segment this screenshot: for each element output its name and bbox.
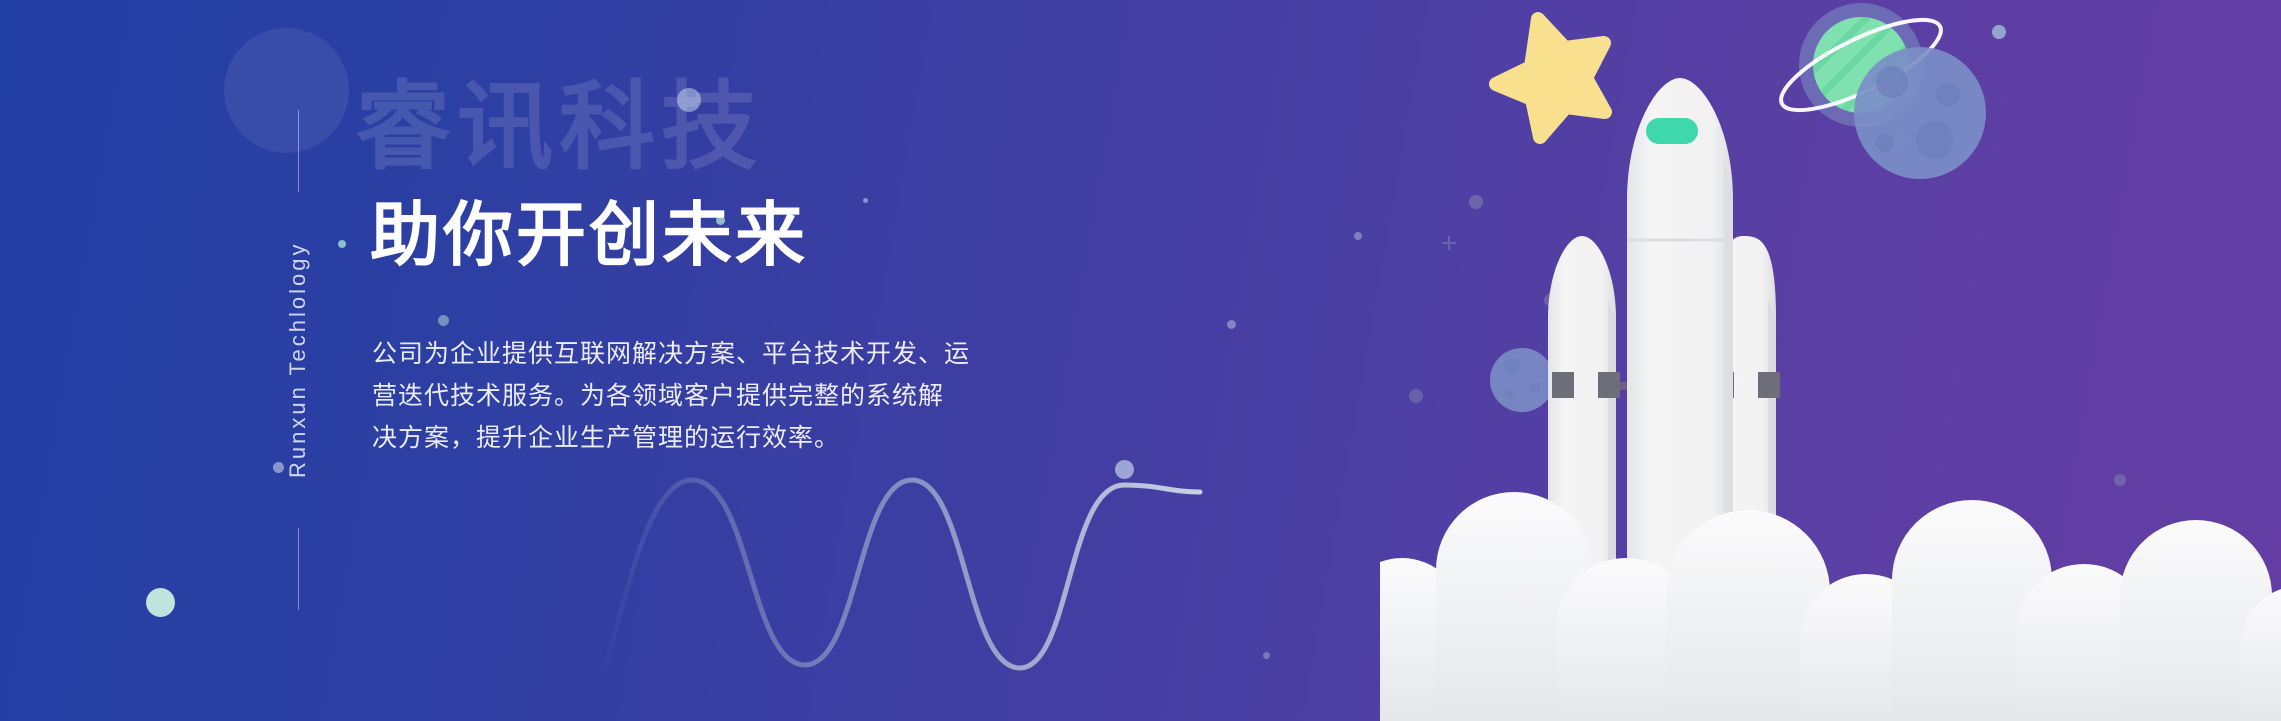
rocket-window bbox=[1646, 118, 1698, 144]
rail-line-top bbox=[298, 110, 299, 192]
moon-decoration bbox=[1854, 47, 1986, 179]
vertical-brand-rail: Runxun Techlology bbox=[278, 110, 318, 610]
rail-line-bottom bbox=[298, 528, 299, 610]
small-moon bbox=[1490, 348, 1554, 412]
background-dot-5 bbox=[438, 315, 449, 326]
background-dot-6 bbox=[146, 588, 175, 617]
ghost-company-title: 睿讯科技 bbox=[355, 80, 763, 176]
background-dot-3 bbox=[863, 198, 868, 203]
headline-title: 助你开创未来 bbox=[370, 200, 808, 270]
background-dot-9 bbox=[1227, 320, 1236, 329]
sine-wave-decoration bbox=[600, 440, 1280, 690]
paragraph-line-2: 营迭代技术服务。为各领域客户提供完整的系统解 bbox=[372, 375, 1162, 417]
rocket-scene bbox=[1380, 0, 2281, 721]
star-decoration bbox=[1496, 19, 1605, 137]
rocket-main-body bbox=[1627, 78, 1733, 580]
paragraph-line-1: 公司为企业提供互联网解决方案、平台技术开发、运 bbox=[372, 333, 1162, 375]
vertical-brand-text: Runxun Techlology bbox=[285, 192, 311, 528]
cloud-cluster bbox=[1380, 492, 2281, 721]
background-dot-10 bbox=[1354, 232, 1362, 240]
background-dot-4 bbox=[338, 240, 346, 248]
hero-banner: Runxun Techlology 睿讯科技 助你开创未来 公司为企业提供互联网… bbox=[0, 0, 2281, 721]
